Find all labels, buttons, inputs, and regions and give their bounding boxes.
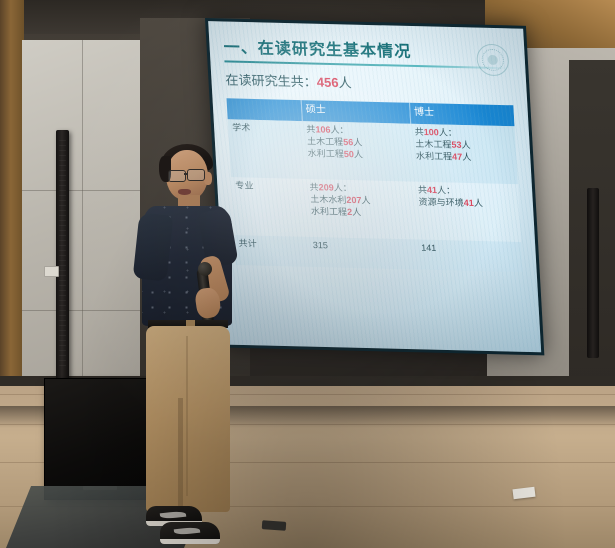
- table-header-blank: [227, 98, 302, 121]
- slide-title: 一、在读研究生基本情况: [223, 33, 515, 64]
- cell-professional-doctor: 共41人： 资源与环境41人: [413, 182, 521, 242]
- table-row-academic: 学术 共106人： 土木工程56人 水利工程50人 共100人： 土木工程53人…: [228, 119, 518, 184]
- wall-panel-left: [22, 40, 142, 420]
- shoe-sole: [160, 539, 220, 544]
- table-row-professional: 专业 共209人： 土木水利207人 水利工程2人 共41人： 资源与环境41人: [231, 177, 521, 242]
- cell-academic-doctor: 共100人： 土木工程53人 水利工程47人: [410, 124, 518, 184]
- speaker-grille: [59, 140, 66, 370]
- total-doctor: 141: [417, 240, 523, 273]
- enrollment-table: 硕士 博士 学术 共106人： 土木工程56人 水利工程50人 共100人： 土…: [227, 98, 524, 272]
- wood-wall-strip-left: [0, 0, 24, 420]
- cell-line: 水利工程50人: [307, 148, 408, 162]
- line-array-speaker-right: [587, 188, 599, 358]
- leg-separation-shadow: [178, 398, 183, 508]
- projection-screen-frame: 一、在读研究生基本情况 在读研究生共：456人 硕士 博士: [205, 18, 544, 355]
- panel-seam: [82, 40, 83, 420]
- cell-line: 水利工程2人: [311, 206, 412, 220]
- khaki-pants: [146, 326, 230, 512]
- glasses-lens-right: [187, 169, 205, 181]
- sleeve-left: [133, 212, 174, 281]
- slide-content: 一、在读研究生基本情况 在读研究生共：456人 硕士 博士: [208, 21, 541, 352]
- presentation-photo: 一、在读研究生基本情况 在读研究生共：456人 硕士 博士: [0, 0, 615, 548]
- cell-academic-master: 共106人： 土木工程56人 水利工程50人: [302, 121, 414, 182]
- wall-outlet: [44, 266, 59, 277]
- shoe-right: [160, 522, 220, 544]
- slide-subtitle: 在读研究生共：456人: [225, 69, 517, 95]
- line-array-speaker: [56, 130, 69, 392]
- total-master: 315: [308, 237, 418, 270]
- subtitle-number: 456: [316, 75, 339, 91]
- projection-screen: 一、在读研究生基本情况 在读研究生共：456人 硕士 博士: [208, 21, 541, 352]
- pants-crease: [186, 336, 188, 496]
- cell-professional-master: 共209人： 土木水利207人 水利工程2人: [305, 179, 417, 240]
- cell-line: 水利工程47人: [416, 151, 513, 165]
- table-header-doctor: 博士: [409, 103, 514, 127]
- subtitle-prefix: 在读研究生共：: [225, 72, 317, 89]
- table-header-master: 硕士: [301, 100, 410, 124]
- ear: [204, 172, 212, 185]
- presenter: [128, 148, 248, 548]
- object-on-floor: [262, 520, 287, 531]
- table-row-total: 共计 315 141: [234, 235, 523, 272]
- cell-line: 资源与环境41人: [418, 197, 515, 211]
- shoe-stripe: [174, 527, 200, 536]
- glasses-bridge: [184, 173, 188, 175]
- glasses-lens-left: [168, 170, 186, 182]
- panel-seam: [22, 310, 142, 311]
- shoe-stripe: [160, 511, 186, 520]
- subtitle-suffix: 人: [338, 75, 352, 90]
